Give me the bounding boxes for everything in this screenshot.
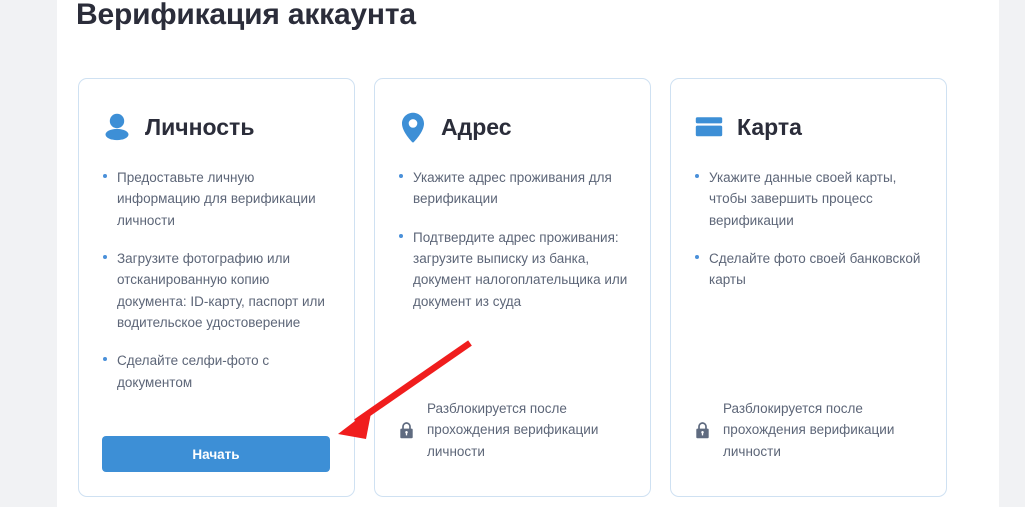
bullet-dot-icon [695,255,699,259]
bullet-dot-icon [103,174,107,178]
person-icon [102,111,132,143]
bullet-dot-icon [103,357,107,361]
bullet-text: Укажите данные своей карты, чтобы заверш… [709,170,896,228]
credit-card-icon [694,111,724,143]
verification-card-identity[interactable]: Личность Предоставьте личную информацию … [78,78,355,497]
bullet-dot-icon [399,234,403,238]
bullet-list-identity: Предоставьте личную информацию для вериф… [103,167,333,393]
list-item: Сделайте селфи-фото с документом [103,350,333,393]
bullet-text: Подтвердите адрес проживания: загрузите … [413,230,627,309]
locked-notice-text: Разблокируется после прохождения верифик… [723,398,927,462]
locked-notice-text: Разблокируется после прохождения верифик… [427,398,631,462]
verification-cards: Личность Предоставьте личную информацию … [78,78,968,497]
card-header-address: Адрес [398,109,512,145]
list-item: Укажите данные своей карты, чтобы заверш… [695,167,925,231]
verification-card-address[interactable]: Адрес Укажите адрес проживания для вериф… [374,78,651,497]
page-content: Верификация аккаунта Личность Предоставь… [57,0,999,507]
list-item: Предоставьте личную информацию для вериф… [103,167,333,231]
lock-icon [399,422,414,439]
card-header-identity: Личность [102,109,254,145]
list-item: Загрузите фотографию или отсканированную… [103,248,333,333]
bullet-text: Сделайте фото своей банковской карты [709,251,920,287]
bullet-dot-icon [695,174,699,178]
bullet-dot-icon [103,255,107,259]
bullet-text: Загрузите фотографию или отсканированную… [117,251,325,330]
lock-icon [695,422,710,439]
locked-notice-bankcard: Разблокируется после прохождения верифик… [695,398,927,462]
bullet-list-address: Укажите адрес проживания для верификации… [399,167,629,312]
list-item: Сделайте фото своей банковской карты [695,248,925,291]
verification-card-bankcard[interactable]: Карта Укажите данные своей карты, чтобы … [670,78,947,497]
locked-notice-address: Разблокируется после прохождения верифик… [399,398,631,462]
card-title-bankcard: Карта [737,116,802,139]
bullet-text: Укажите адрес проживания для верификации [413,170,612,206]
page-title: Верификация аккаунта [76,0,416,32]
start-verification-button[interactable]: Начать [102,436,330,472]
list-item: Подтвердите адрес проживания: загрузите … [399,227,629,312]
card-title-address: Адрес [441,116,512,139]
card-header-bankcard: Карта [694,109,802,145]
map-pin-icon [398,111,428,143]
bullet-dot-icon [399,174,403,178]
bullet-list-bankcard: Укажите данные своей карты, чтобы заверш… [695,167,925,291]
bullet-text: Предоставьте личную информацию для вериф… [117,170,316,228]
list-item: Укажите адрес проживания для верификации [399,167,629,210]
card-title-identity: Личность [145,116,254,139]
bullet-text: Сделайте селфи-фото с документом [117,353,269,389]
